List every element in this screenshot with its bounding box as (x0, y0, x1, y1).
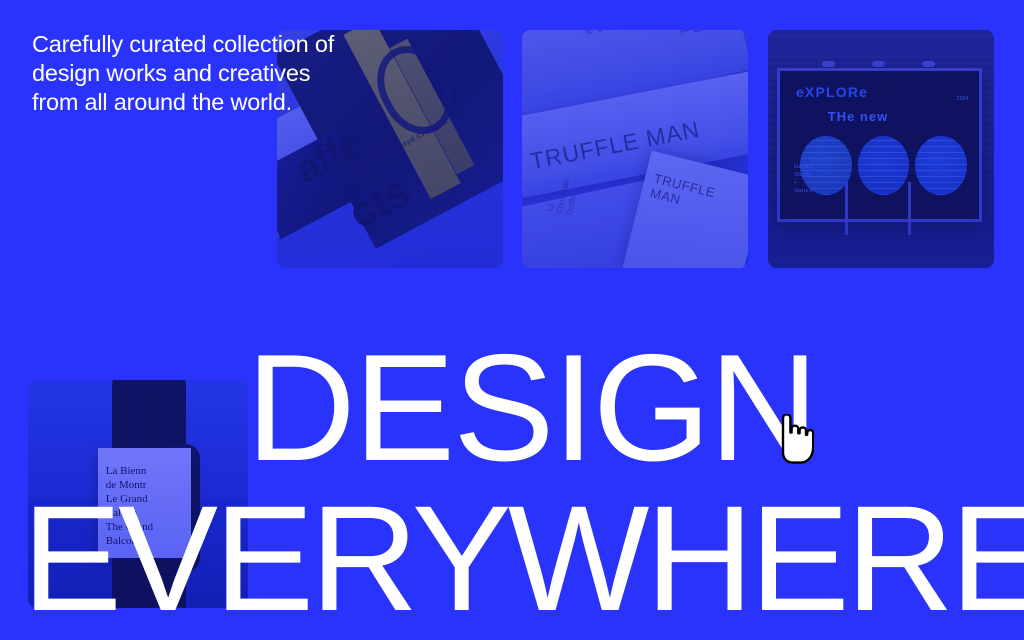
artwork-shape: eXPLORe THe new Gallery Studio + Nature … (777, 68, 982, 222)
gallery-card-explore-the-new[interactable]: eXPLORe THe new Gallery Studio + Nature … (768, 30, 994, 268)
artwork-shape (845, 182, 848, 234)
artwork-credits: Gallery Studio + Nature (794, 163, 814, 195)
artwork-shape (872, 61, 885, 67)
artwork-shape (915, 136, 967, 195)
hero-title-line-2: EVERYWHERE (22, 483, 1024, 633)
artwork-image-billboard: eXPLORe THe new Gallery Studio + Nature … (768, 30, 994, 268)
artwork-headline-1: eXPLORe (796, 84, 868, 100)
artwork-shape (908, 182, 911, 234)
hero-subheadline: Carefully curated collection of design w… (32, 30, 452, 117)
artwork-headline-2: THe new (828, 109, 888, 124)
artwork-shape (922, 61, 935, 67)
hero-stage: affe cts Boyd Crea Stor 8 Chocolate Truf… (0, 0, 1024, 640)
artwork-shape (822, 61, 835, 67)
gallery-card-truffle-man[interactable]: 8 Chocolate Truffle Treasures TRUFFLE MA… (522, 30, 748, 268)
hero-title-line-1: DESIGN (246, 332, 817, 484)
artwork-shape (858, 136, 910, 195)
artwork-corner-text: 2024 (957, 96, 969, 102)
artwork-image-truffle-man: 8 Chocolate Truffle Treasures TRUFFLE MA… (522, 30, 748, 268)
